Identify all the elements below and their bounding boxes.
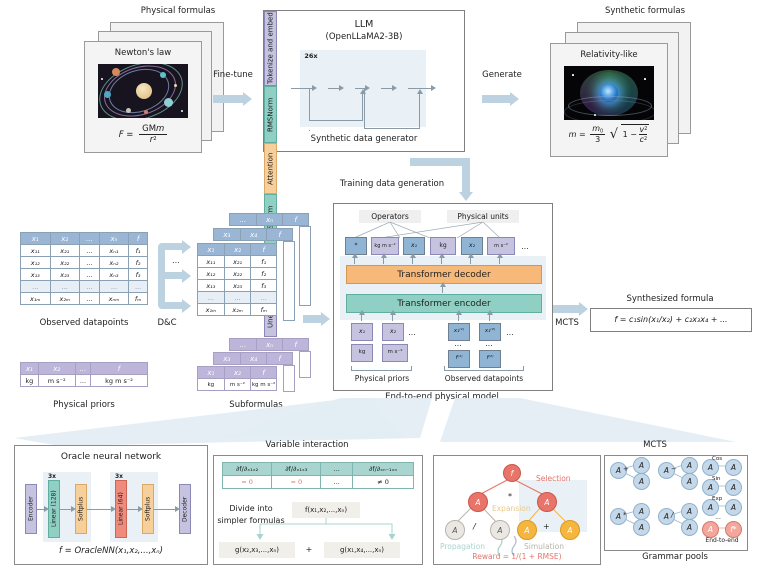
- cell: x₁₂: [21, 257, 51, 269]
- table-row: ... ... ... ... ...: [21, 281, 148, 293]
- subpriors-table-back1: x₃ x₄ f: [213, 352, 293, 365]
- table-row: x₁₃ x₂₃ f₃: [198, 280, 277, 292]
- col-header: ...: [230, 214, 257, 226]
- col-header: ∂f/∂ₓ₁ₓ₃: [272, 463, 321, 476]
- divide-text-line1: Divide into: [220, 504, 282, 513]
- partial-derivative-table: ∂f/∂ₓ₁ₓ₂ ∂f/∂ₓ₁ₓ₃ ... ∂f/∂ₓₙ₋₁ₓₙ = 0 = 0…: [222, 462, 414, 489]
- table-row: kg m s⁻² kg m s⁻²: [198, 379, 277, 391]
- grammar-node-c3-child-sin: A: [725, 479, 742, 496]
- encoder-in-head: [390, 310, 396, 315]
- cell: x₁ₘ: [198, 304, 225, 316]
- priors-brace-right: [411, 366, 412, 370]
- cell: x₂₂: [50, 257, 80, 269]
- dc-ellipsis: ...: [168, 256, 184, 265]
- prior-tokens-ellipsis: ...: [404, 328, 420, 337]
- grammar-node-c2-child-2a: A: [681, 503, 698, 520]
- black-hole-image: [564, 66, 654, 120]
- fine-tune-arrow-head: [243, 92, 252, 106]
- col-header: x₁: [198, 367, 225, 379]
- oracle-block-label: Softplus: [78, 497, 85, 521]
- cell: fₘ: [251, 304, 277, 316]
- llm-residual: [309, 120, 362, 121]
- training-data-generation-label: Training data generation: [318, 179, 466, 189]
- grammar-op-exp: Exp: [712, 496, 722, 502]
- fine-tune-label: Fine-tune: [208, 70, 258, 80]
- table-header-row: ∂f/∂ₓ₁ₓ₂ ∂f/∂ₓ₁ₓ₃ ... ∂f/∂ₓₙ₋₁ₓₙ: [223, 463, 414, 476]
- mcts-title: MCTS: [625, 440, 685, 450]
- subformula-table-back1: x₃ x₄ f: [213, 228, 293, 241]
- cell: ...: [21, 281, 51, 293]
- oracle-block-label: Linear (128): [51, 491, 58, 528]
- llm-residual-head: [417, 89, 423, 94]
- col-header: xₙ: [256, 339, 283, 351]
- table-row: x₁ₘ x₂ₘ ... xₙₘ fₘ: [21, 293, 148, 305]
- col-header: ...: [75, 363, 90, 375]
- mcts-arrow-shaft: [553, 305, 579, 313]
- col-header: x₄: [240, 229, 267, 241]
- grammar-op-cos: Cos: [712, 456, 722, 462]
- llm-residual: [419, 92, 420, 129]
- cell: ...: [80, 257, 100, 269]
- table-header-row: x₁ x₂ ... f: [21, 363, 148, 375]
- transformer-encoder-bar: Transformer encoder: [346, 294, 542, 313]
- llm-arrowhead: [312, 85, 317, 91]
- grammar-pools-panel: A A A + A A A * A A A − A A A / A A Cos …: [604, 455, 748, 551]
- dc-arrow-head: [182, 299, 191, 313]
- subpriors-table-back2: ... xₙ f: [229, 338, 309, 351]
- subformula-table-front: x₁ x₂ f x₁₁ x₂₁ f₁ x₁₂ x₂₂ f₂ x₁₃ x₂₃ f₃…: [197, 243, 277, 316]
- grammar-node-c1-child-1a: A: [633, 457, 650, 474]
- generate-arrow-shaft: [482, 95, 510, 103]
- table-header-row: x₃ x₄ f: [214, 353, 293, 365]
- oracle-block-label: Softplus: [145, 497, 152, 521]
- llm-repeat-label: 26x: [303, 52, 319, 60]
- table-row: x₁ₘ x₂ₘ fₘ: [198, 304, 277, 316]
- mcts-expansion-label: Expansion: [492, 504, 531, 513]
- cell: x₂₃: [224, 280, 251, 292]
- mcts-arrow-label: MCTS: [548, 318, 586, 328]
- grammar-op-minus: −: [671, 465, 677, 473]
- formula-sheet-front: Newton's law F = GMm r2: [84, 41, 202, 153]
- datapoints-brace-right: [523, 366, 524, 370]
- llm-arrowhead: [365, 85, 370, 91]
- cell: ≠ 0: [353, 476, 414, 489]
- mcts-reward-label: Reward = 1/(1 + RMSE): [434, 552, 600, 561]
- relativity-formula: m = m0 3 √ 1 − v2 c2: [551, 124, 667, 144]
- dc-arrow-head: [182, 269, 191, 283]
- input-token-prior-ms2: m s⁻²: [382, 344, 408, 362]
- decoder-out-head: [410, 253, 416, 258]
- col-header: x₂: [38, 363, 75, 375]
- col-header: x₃: [214, 353, 241, 365]
- cell: xₙ₁: [99, 245, 128, 257]
- llm-block-attention: Attention: [264, 143, 277, 194]
- cell: x₁₃: [21, 269, 51, 281]
- token-label-connectors: [334, 222, 552, 238]
- llm-arrowhead: [392, 85, 397, 91]
- mcts-node-left: A: [468, 492, 488, 512]
- llm-block-label: Attention: [267, 152, 275, 184]
- fine-tune-arrow-shaft: [213, 95, 243, 103]
- input-token-datapoint-f1: f⁽¹⁾: [448, 350, 470, 368]
- table-header-row: x₁ x₂ f: [198, 244, 277, 256]
- model-datapoints-caption: Observed datapoints: [442, 374, 526, 383]
- llm-block-label: RMSNorm: [267, 97, 275, 131]
- col-header: f: [251, 367, 277, 379]
- mcts-leaf-2: A: [490, 520, 510, 540]
- cell: ...: [321, 476, 353, 489]
- table-header-row: x₁ x₂ f: [198, 367, 277, 379]
- subpriors-stack: ... xₙ f x₃ x₄ f x₁ x₂ f kg m s⁻² kg m s…: [196, 338, 326, 398]
- oracle-repeat-label-2: 3x: [112, 473, 126, 480]
- cell: ...: [50, 281, 80, 293]
- datapoint-col1-ellipsis: ...: [450, 339, 466, 348]
- training-arrow-head: [459, 192, 473, 201]
- oracle-block-label: Decoder: [182, 496, 189, 521]
- oracle-arrowhead: [175, 506, 180, 512]
- training-arrow-shaft-h: [410, 158, 470, 166]
- col-header: x₂: [50, 233, 80, 245]
- input-token-prior-kg: kg: [351, 344, 373, 362]
- subformula-sheet-back2: [299, 226, 311, 306]
- decoder-out-head: [352, 253, 358, 258]
- col-header: x₁: [198, 244, 225, 256]
- decoder-out-head: [497, 253, 503, 258]
- cell: ...: [80, 293, 100, 305]
- priors-brace: [351, 370, 412, 371]
- llm-residual: [362, 92, 363, 121]
- cell: f₃: [129, 269, 148, 281]
- col-header: f: [251, 244, 277, 256]
- col-header: ∂f/∂ₓₙ₋₁ₓₙ: [353, 463, 414, 476]
- dc-label: D&C: [150, 318, 184, 328]
- parent-formula-box: f(x₁,x₂,...,xₙ): [292, 502, 360, 518]
- col-header: f: [91, 363, 148, 375]
- cell: fₘ: [129, 293, 148, 305]
- llm-arrowhead: [339, 85, 344, 91]
- subformulas-to-model-arrow-head: [321, 312, 330, 326]
- oracle-block-decoder: Decoder: [179, 484, 191, 534]
- table-row: ... ... ...: [198, 292, 277, 304]
- col-header: xₙ: [256, 214, 283, 226]
- table-row: = 0 = 0 ... ≠ 0: [223, 476, 414, 489]
- table-row: x₁₁ x₂₁ ... xₙ₁ f₁: [21, 245, 148, 257]
- cell: = 0: [272, 476, 321, 489]
- oracle-title: Oracle neural network: [15, 452, 207, 462]
- llm-title: LLM: [264, 19, 464, 30]
- grammar-node-c1-child-1b: A: [633, 473, 650, 490]
- datapoints-brace: [444, 370, 524, 371]
- dc-arrow-head: [182, 240, 191, 254]
- newtons-law-label: Newton's law: [85, 48, 201, 58]
- cell: ...: [129, 281, 148, 293]
- mcts-op-plus: +: [543, 522, 550, 531]
- cell: kg: [198, 379, 225, 391]
- encoder-in-head: [359, 310, 365, 315]
- subpriors-table-front: x₁ x₂ f kg m s⁻² kg m s⁻²: [197, 366, 277, 391]
- generate-arrow-head: [510, 92, 519, 106]
- grammar-node-end-to-end-child: f*: [725, 521, 742, 538]
- llm-caption: Synthetic data generator: [264, 134, 464, 144]
- col-header: x₃: [214, 229, 241, 241]
- child-formula-left-box: g(x₂,x₃,...,xₙ): [219, 542, 295, 558]
- mcts-panel: f A A A A A A * / + Selection Expansion …: [433, 455, 601, 565]
- cell: f₂: [251, 268, 277, 280]
- synthesized-formula-box: f = c₁sin(x₁/x₂) + c₂x₃x₄ + ...: [590, 308, 752, 332]
- oracle-block-softplus-1: Softplus: [75, 484, 87, 534]
- decoder-out-head: [439, 253, 445, 258]
- subpriors-sheet-back1: [283, 365, 295, 392]
- cell: = 0: [223, 476, 272, 489]
- oracle-block-label: Linear (64): [118, 493, 125, 526]
- synthesized-formula-text: f = c₁sin(x₁/x₂) + c₂x₃x₄ + ...: [591, 315, 751, 324]
- llm-residual: [364, 88, 365, 128]
- datapoint-col2-ellipsis: ...: [481, 339, 497, 348]
- oracle-arrowhead: [111, 506, 116, 512]
- output-tokens-ellipsis: ...: [517, 242, 533, 251]
- grammar-node-c1-child-2b: A: [633, 519, 650, 536]
- table-header-row: x₃ x₄ f: [214, 229, 293, 241]
- cell: x₁ₘ: [21, 293, 51, 305]
- col-header: ...: [80, 233, 100, 245]
- grammar-op-sin: Sin: [712, 476, 721, 482]
- subformula-table-back2: ... xₙ f: [229, 213, 309, 226]
- cell: ...: [75, 375, 90, 387]
- cell: ...: [224, 292, 251, 304]
- mcts-root-node: f: [503, 464, 521, 482]
- cell: kg m s⁻²: [91, 375, 148, 387]
- mcts-leaf-3: A: [517, 520, 537, 540]
- grammar-pools-caption: Grammar pools: [604, 552, 746, 562]
- col-header: x₁: [21, 363, 39, 375]
- oracle-arrowhead: [71, 506, 76, 512]
- priors-brace-left: [351, 366, 352, 370]
- synth-sheet-front: Relativity-like m = m0 3 √ 1 − v2 c2: [550, 43, 668, 157]
- child-formula-right-box: g(x₁,x₄,...,xₙ): [324, 542, 400, 558]
- grammar-op-star: *: [623, 511, 627, 519]
- cell: kg m s⁻²: [251, 379, 277, 391]
- grammar-node-c2-child-1a: A: [681, 457, 698, 474]
- solar-system-image: [98, 64, 188, 118]
- mcts-propagation-label: Propagation: [440, 542, 485, 551]
- cell: ...: [198, 292, 225, 304]
- llm-block-label: Tokenize and embed: [267, 13, 275, 85]
- input-token-prior-x2: x₂: [382, 323, 404, 341]
- cell: ...: [80, 245, 100, 257]
- end-to-end-model-panel: Operators Physical units * kg m s⁻² x₁ k…: [333, 203, 553, 391]
- grammar-op-plus: +: [623, 465, 629, 473]
- grammar-op-slash: /: [671, 511, 673, 519]
- relativity-like-label: Relativity-like: [551, 50, 667, 60]
- cell: x₂₂: [224, 268, 251, 280]
- oracle-arrowhead: [138, 506, 143, 512]
- grammar-end-to-end-label: End-to-end: [697, 537, 747, 544]
- col-header: x₂: [224, 367, 251, 379]
- cell: x₂₃: [50, 269, 80, 281]
- physical-priors-table: x₁ x₂ ... f kg m s⁻² ... kg m s⁻²: [20, 362, 148, 387]
- newton-formula: F = GMm r2: [85, 124, 201, 145]
- col-header: x₁: [21, 233, 51, 245]
- grammar-node-end-to-end-parent: A: [702, 521, 719, 538]
- col-header: ...: [321, 463, 353, 476]
- dc-arrow-shaft: [163, 243, 183, 250]
- synthesized-formula-label: Synthesized formula: [590, 294, 750, 304]
- oracle-block-encoder: Encoder: [25, 484, 37, 534]
- cell: ...: [99, 281, 128, 293]
- variable-interaction-title: Variable interaction: [218, 440, 396, 450]
- llm-panel: LLM (OpenLLaMA2-3B) 26x Tokenize and emb…: [263, 10, 465, 152]
- cell: x₁₁: [198, 256, 225, 268]
- table-header-row: ... xₙ f: [230, 339, 309, 351]
- decoder-out-head: [468, 253, 474, 258]
- synthetic-formulas-label: Synthetic formulas: [585, 6, 705, 16]
- oracle-neural-network-panel: Oracle neural network 3x 3x Encoder Line…: [14, 445, 208, 565]
- observed-datapoints-table: x₁ x₂ ... xₙ f x₁₁ x₂₁ ... xₙ₁ f₁ x₁₂ x₂…: [20, 232, 148, 305]
- table-header-row: ... xₙ f: [230, 214, 309, 226]
- llm-residual: [309, 88, 310, 121]
- oracle-block-softplus-2: Softplus: [142, 484, 154, 534]
- physical-formulas-stack: ...... Newton's law F = GMm r2: [80, 22, 240, 147]
- cell: x₁₂: [198, 268, 225, 280]
- llm-subtitle: (OpenLLaMA2-3B): [264, 32, 464, 42]
- grammar-node-c3-child-cos: A: [725, 459, 742, 476]
- col-header: f: [267, 353, 293, 365]
- cell: m s⁻²: [38, 375, 75, 387]
- llm-block-tokenize-embed: Tokenize and embed: [264, 11, 277, 86]
- col-header: f: [283, 339, 309, 351]
- observed-datapoints-label: Observed datapoints: [20, 318, 148, 328]
- synthetic-formulas-stack: ...... Relativity-like m = m0 3 √ 1 − v2: [545, 22, 710, 150]
- llm-residual: [364, 128, 419, 129]
- grammar-col3-ellipsis: ...: [710, 514, 726, 521]
- cell: f₁: [251, 256, 277, 268]
- cell: f₁: [129, 245, 148, 257]
- oracle-connector: [154, 509, 176, 510]
- subformulas-stack: ... xₙ f x₃ x₄ f x₁ x₂ f x₁₁ x₂₁ f₁ x₁₂ …: [196, 213, 326, 348]
- cell: xₙ₃: [99, 269, 128, 281]
- subpriors-sheet-back2: [299, 351, 311, 378]
- training-arrow-shaft-v: [462, 158, 470, 192]
- mcts-arrow-head: [579, 302, 588, 316]
- oracle-block-linear-128: Linear (128): [48, 480, 60, 538]
- cell: f₃: [251, 280, 277, 292]
- cell: xₙₘ: [99, 293, 128, 305]
- mcts-simulation-label: Simulation: [524, 542, 564, 551]
- encoder-in-head: [487, 310, 493, 315]
- model-priors-caption: Physical priors: [342, 374, 422, 383]
- oracle-repeat-label-1: 3x: [45, 473, 59, 480]
- physical-formulas-label: Physical formulas: [118, 6, 238, 16]
- subformulas-to-model-arrow-shaft: [303, 315, 321, 323]
- oracle-block-label: Encoder: [28, 497, 35, 522]
- cell: x₂ₘ: [224, 304, 251, 316]
- grammar-node-c3-child-exp: A: [725, 499, 742, 516]
- table-row: x₁₂ x₂₂ f₂: [198, 268, 277, 280]
- table-row: kg m s⁻² ... kg m s⁻²: [21, 375, 148, 387]
- divide-connectors: [244, 518, 422, 540]
- table-row: x₁₂ x₂₂ ... xₙ₂ f₂: [21, 257, 148, 269]
- col-header: f: [283, 214, 309, 226]
- cell: kg: [21, 375, 39, 387]
- encoder-in-head: [456, 310, 462, 315]
- decoder-out-head: [381, 253, 387, 258]
- grammar-node-c2-child-1b: A: [681, 473, 698, 490]
- col-header: ∂f/∂ₓ₁ₓ₂: [223, 463, 272, 476]
- datapoint-tokens-ellipsis: ...: [502, 328, 518, 337]
- variable-interaction-panel: ∂f/∂ₓ₁ₓ₂ ∂f/∂ₓ₁ₓ₃ ... ∂f/∂ₓₙ₋₁ₓₙ = 0 = 0…: [213, 455, 423, 565]
- cell: x₂₁: [224, 256, 251, 268]
- cell: ...: [80, 281, 100, 293]
- mcts-node-right: A: [537, 492, 557, 512]
- col-header: xₙ: [99, 233, 128, 245]
- cell: x₂₁: [50, 245, 80, 257]
- mcts-leaf-1: A: [445, 520, 465, 540]
- grammar-node-c2-child-2b: A: [681, 519, 698, 536]
- col-header: f: [129, 233, 148, 245]
- cell: ...: [251, 292, 277, 304]
- mcts-op-star: *: [508, 492, 512, 501]
- encoder-to-decoder-head: [440, 282, 446, 287]
- oracle-connector: [87, 509, 112, 510]
- grammar-node-c1-child-2a: A: [633, 503, 650, 520]
- oracle-arrowhead: [44, 506, 49, 512]
- input-token-prior-x1: x₁: [351, 323, 373, 341]
- table-header-row: x₁ x₂ ... xₙ f: [21, 233, 148, 245]
- table-row: x₁₁ x₂₁ f₁: [198, 256, 277, 268]
- dc-arrow-shaft: [163, 302, 183, 309]
- table-row: x₁₃ x₂₃ ... xₙ₃ f₃: [21, 269, 148, 281]
- cell: xₙ₂: [99, 257, 128, 269]
- cell: x₁₃: [198, 280, 225, 292]
- col-header: f: [267, 229, 293, 241]
- mcts-op-slash: /: [473, 522, 476, 531]
- cell: x₁₁: [21, 245, 51, 257]
- oracle-formula: f = OracleNN(x₁,x₂,...,xₙ): [15, 546, 207, 556]
- llm-arrowhead: [431, 85, 436, 91]
- input-token-datapoint-f2: f⁽²⁾: [479, 350, 501, 368]
- col-header: x₂: [224, 244, 251, 256]
- col-header: ...: [230, 339, 257, 351]
- generate-label: Generate: [478, 70, 526, 80]
- subformula-sheet-back1: [283, 241, 295, 321]
- cell: x₂ₘ: [50, 293, 80, 305]
- dc-arrow-shaft: [163, 272, 183, 279]
- oracle-block-linear-64: Linear (64): [115, 480, 127, 538]
- datapoints-brace-left: [444, 366, 445, 370]
- cell: f₂: [129, 257, 148, 269]
- cell: m s⁻²: [224, 379, 251, 391]
- mcts-selection-label: Selection: [536, 474, 571, 483]
- cell: ...: [80, 269, 100, 281]
- col-header: x₄: [240, 353, 267, 365]
- plus-sign: +: [302, 545, 316, 554]
- mcts-leaf-4: A: [560, 520, 580, 540]
- llm-residual: [309, 130, 310, 131]
